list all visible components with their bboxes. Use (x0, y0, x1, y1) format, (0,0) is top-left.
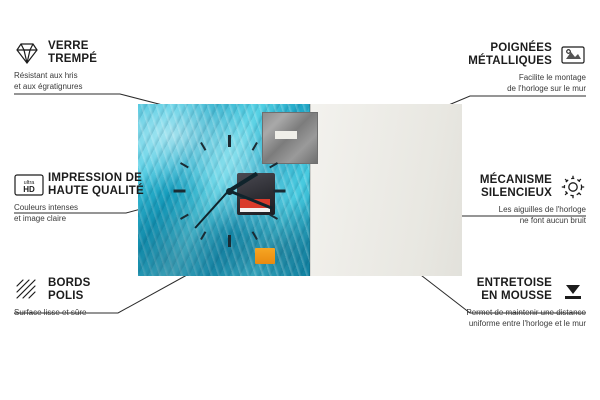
callout-desc: Résistant aux hris et aux égratignures (14, 71, 164, 92)
diamond-icon (14, 40, 40, 66)
svg-text:HD: HD (23, 185, 35, 194)
callout-title-line1: VERRE (48, 40, 97, 53)
clock-center-pin (226, 188, 233, 195)
gear-icon (560, 174, 586, 200)
callout-desc: Les aiguilles de l'horloge ne font aucun… (396, 205, 586, 226)
callout-title-line1: ENTRETOISE (477, 277, 552, 290)
polished-edges-icon (14, 277, 40, 303)
callout-title-line2: SILENCIEUX (480, 187, 552, 200)
metal-handle-icon (560, 42, 586, 68)
callout-title-line2: HAUTE QUALITÉ (48, 185, 144, 198)
callout-title-line1: IMPRESSION DE (48, 172, 144, 185)
callout-title-line2: MÉTALLIQUES (468, 55, 552, 68)
clock-second-hand (195, 190, 230, 228)
callout-entretoise-en-mousse: ENTRETOISE EN MOUSSE Permet de maintenir… (376, 277, 586, 329)
callout-desc: Surface lisse et sûre (14, 308, 164, 319)
download-arrow-icon (560, 277, 586, 303)
callout-title-line2: POLIS (48, 290, 91, 303)
callout-desc: Couleurs intenses et image claire (14, 203, 164, 224)
callout-mecanisme-silencieux: MÉCANISME SILENCIEUX Les aiguilles de l'… (396, 174, 586, 226)
infographic-stage: VERRE TREMPÉ Résistant aux hris et aux é… (0, 0, 600, 400)
ultra-hd-icon: ultra HD (14, 172, 40, 198)
callout-desc: Facilite le montage de l'horloge sur le … (406, 73, 586, 94)
callout-desc: Permet de maintenir une distance uniform… (376, 308, 586, 329)
callout-title-line1: BORDS (48, 277, 91, 290)
callout-title-line2: EN MOUSSE (477, 290, 552, 303)
callout-title-line1: POIGNÉES (468, 42, 552, 55)
callout-bords-polis: BORDS POLIS Surface lisse et sûre (14, 277, 164, 319)
callout-impression-haute-qualite: ultra HD IMPRESSION DE HAUTE QUALITÉ Cou… (14, 172, 164, 224)
callout-title-line2: TREMPÉ (48, 53, 97, 66)
callout-poignees-metalliques: POIGNÉES MÉTALLIQUES Facilite le montage… (406, 42, 586, 94)
callout-title-line1: MÉCANISME (480, 174, 552, 187)
clock-face (164, 126, 294, 256)
clock-minute-hand (228, 190, 272, 210)
callout-verre-trempe: VERRE TREMPÉ Résistant aux hris et aux é… (14, 40, 164, 92)
